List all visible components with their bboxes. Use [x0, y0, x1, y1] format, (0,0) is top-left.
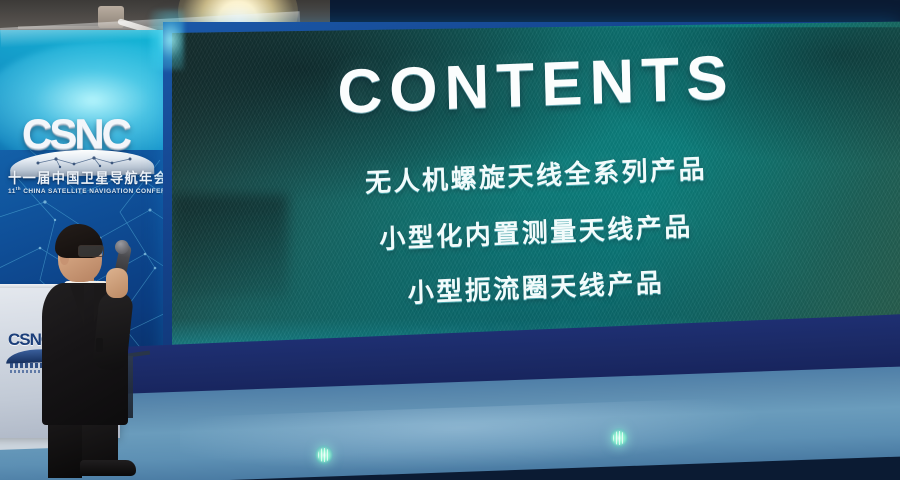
- csnc-wall-logo-english: 11th CHINA SATELLITE NAVIGATION CONFEREN…: [8, 186, 186, 195]
- conference-stage-scene: CSNC 十一届中国卫星导航年会 11th CHINA SATELLITE NA…: [0, 0, 900, 480]
- mic-stand: [128, 356, 133, 418]
- speaker-lapel-badge: [96, 338, 103, 352]
- floor-light-left-icon: [315, 445, 333, 465]
- slide-title: CONTENTS: [337, 42, 736, 128]
- glasses-icon: [78, 245, 104, 257]
- speaker-shoe: [80, 460, 136, 476]
- slide-item-3: 小型扼流圈天线产品: [407, 262, 664, 309]
- speaker-leg-left: [48, 418, 82, 478]
- csnc-wall-logo: CSNC 十一届中国卫星导航年会 11th CHINA SATELLITE NA…: [4, 108, 160, 196]
- floor-light-right-icon: [610, 428, 628, 448]
- screen-edge-glow: [150, 10, 184, 70]
- csnc-wall-logo-chinese: 十一届中国卫星导航年会: [8, 168, 168, 188]
- speaker-lapel-left: [70, 285, 84, 325]
- slide-item-1: 无人机螺旋天线全系列产品: [365, 149, 708, 200]
- speaker-hand: [106, 268, 128, 298]
- slide-item-2: 小型化内置测量天线产品: [379, 206, 693, 256]
